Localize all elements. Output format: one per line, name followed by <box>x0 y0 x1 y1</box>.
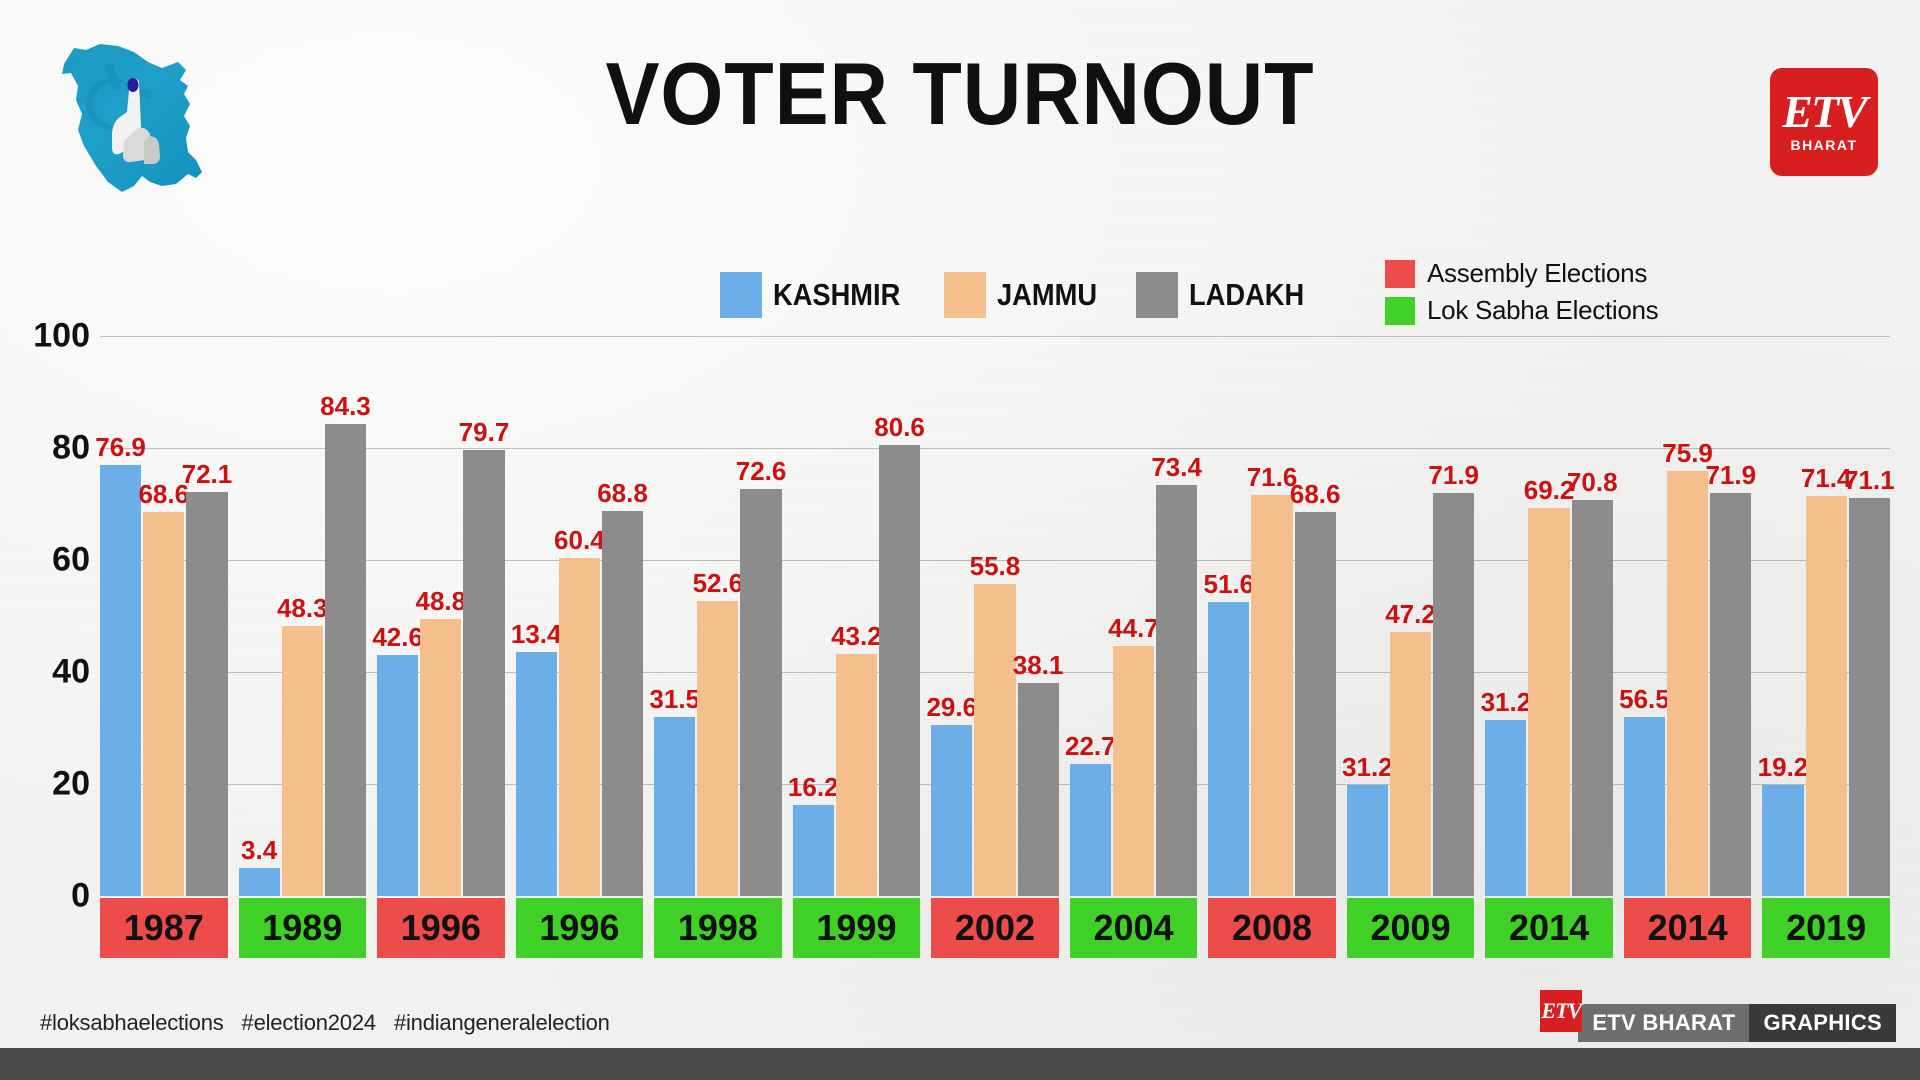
bar-value-label: 31.5 <box>649 686 700 712</box>
bar-kashmir[interactable]: 76.9 <box>100 336 141 896</box>
legend-swatch-kashmir <box>720 272 762 318</box>
bar-rect <box>1485 720 1526 896</box>
bar-value-label: 80.6 <box>874 414 925 440</box>
bar-rect <box>1156 485 1197 896</box>
legend-item-assembly-elections[interactable]: Assembly Elections <box>1385 258 1658 289</box>
bar-groups: 76.968.672.13.448.384.342.648.879.713.46… <box>100 336 1890 896</box>
bar-rect <box>186 492 227 896</box>
year-label-1987-0[interactable]: 1987 <box>100 898 228 958</box>
y-axis-tick-40: 40 <box>52 653 90 692</box>
bar-ladakh[interactable]: 68.8 <box>602 336 643 896</box>
bar-group: 31.247.271.9 <box>1347 336 1475 896</box>
bar-kashmir[interactable]: 19.2 <box>1762 336 1803 896</box>
page-title: VOTER TURNOUT <box>77 50 1843 138</box>
bar-rect <box>602 511 643 896</box>
bar-kashmir[interactable]: 31.5 <box>654 336 695 896</box>
bar-rect <box>1433 493 1474 896</box>
year-label-2004-7[interactable]: 2004 <box>1070 898 1198 958</box>
bar-value-label: 3.4 <box>241 837 277 863</box>
bar-group: 19.271.471.1 <box>1762 336 1890 896</box>
bar-kashmir[interactable]: 42.6 <box>377 336 418 896</box>
bar-jammu[interactable]: 48.3 <box>282 336 323 896</box>
bar-value-label: 13.4 <box>511 621 562 647</box>
bar-ladakh[interactable]: 73.4 <box>1156 336 1197 896</box>
bar-rect <box>654 717 695 896</box>
year-label-2019-12[interactable]: 2019 <box>1762 898 1890 958</box>
bar-value-label: 29.6 <box>926 694 977 720</box>
bar-ladakh[interactable]: 80.6 <box>879 336 920 896</box>
bar-ladakh[interactable]: 72.6 <box>740 336 781 896</box>
hashtag[interactable]: #election2024 <box>242 1010 376 1035</box>
bar-group: 3.448.384.3 <box>239 336 367 896</box>
bar-rect <box>1624 717 1665 896</box>
hashtag[interactable]: #loksabhaelections <box>40 1010 224 1035</box>
year-axis-strip: 1987198919961996199819992002200420082009… <box>100 898 1890 958</box>
bar-ladakh[interactable]: 70.8 <box>1572 336 1613 896</box>
bar-group: 22.744.773.4 <box>1070 336 1198 896</box>
bar-value-label: 42.6 <box>372 624 423 650</box>
bar-value-label: 84.3 <box>320 393 371 419</box>
bar-kashmir[interactable]: 31.2 <box>1485 336 1526 896</box>
bar-jammu[interactable]: 68.6 <box>143 336 184 896</box>
bar-rect <box>879 445 920 896</box>
bar-rect <box>559 558 600 896</box>
bar-ladakh[interactable]: 72.1 <box>186 336 227 896</box>
bar-jammu[interactable]: 71.6 <box>1251 336 1292 896</box>
legend-label-lok-sabha: Lok Sabha Elections <box>1427 295 1658 326</box>
bar-jammu[interactable]: 43.2 <box>836 336 877 896</box>
bar-value-label: 70.8 <box>1567 469 1618 495</box>
bar-group: 51.671.668.6 <box>1208 336 1336 896</box>
legend-label-kashmir: KASHMIR <box>773 277 900 313</box>
bar-group: 31.269.270.8 <box>1485 336 1613 896</box>
bar-rect <box>1710 493 1751 896</box>
bar-jammu[interactable]: 75.9 <box>1667 336 1708 896</box>
bar-rect <box>1113 646 1154 896</box>
bar-rect <box>836 654 877 896</box>
bar-value-label: 56.5 <box>1619 686 1670 712</box>
bar-jammu[interactable]: 48.8 <box>420 336 461 896</box>
y-axis-tick-80: 80 <box>52 429 90 468</box>
bar-rect <box>1762 785 1803 896</box>
infographic-root: VOTER TURNOUT ETV BHARAT KASHMIR JAMMU L… <box>0 0 1920 1080</box>
bar-jammu[interactable]: 52.6 <box>697 336 738 896</box>
legend-swatch-ladakh <box>1136 272 1178 318</box>
legend-label-assembly: Assembly Elections <box>1427 258 1647 289</box>
footer-badge-graphics: GRAPHICS <box>1749 1004 1896 1042</box>
election-type-legend: Assembly Elections Lok Sabha Elections <box>1385 258 1658 326</box>
legend-label-ladakh: LADAKH <box>1189 277 1304 313</box>
bar-ladakh[interactable]: 84.3 <box>325 336 366 896</box>
bar-value-label: 68.8 <box>597 480 648 506</box>
bar-rect <box>1528 508 1569 896</box>
bar-jammu[interactable]: 47.2 <box>1390 336 1431 896</box>
year-label-1996-3[interactable]: 1996 <box>516 898 644 958</box>
bar-group: 56.575.971.9 <box>1624 336 1752 896</box>
footer-badge-etv-bharat: ETV BHARAT <box>1578 1004 1749 1042</box>
bar-rect <box>1018 683 1059 896</box>
bar-rect <box>931 725 972 896</box>
legend-label-jammu: JAMMU <box>997 277 1097 313</box>
bar-rect <box>1251 495 1292 896</box>
chart-plot-area: 76.968.672.13.448.384.342.648.879.713.46… <box>100 336 1890 896</box>
bar-value-label: 31.2 <box>1342 754 1393 780</box>
bar-group: 42.648.879.7 <box>377 336 505 896</box>
hashtag-list: #loksabhaelections#election2024#indiange… <box>40 1010 628 1036</box>
bar-value-label: 73.4 <box>1151 454 1202 480</box>
bar-rect <box>1667 471 1708 896</box>
bar-value-label: 22.7 <box>1065 733 1116 759</box>
bar-ladakh[interactable]: 68.6 <box>1295 336 1336 896</box>
bar-group: 29.655.838.1 <box>931 336 1059 896</box>
legend-swatch-jammu <box>944 272 986 318</box>
bar-kashmir[interactable]: 29.6 <box>931 336 972 896</box>
bar-ladakh[interactable]: 79.7 <box>463 336 504 896</box>
hashtag[interactable]: #indiangeneralelection <box>394 1010 610 1035</box>
etv-bharat-logo: ETV BHARAT <box>1770 68 1878 176</box>
bar-rect <box>1208 602 1249 896</box>
legend-item-jammu[interactable]: JAMMU <box>944 272 1111 318</box>
bar-rect <box>793 805 834 896</box>
bar-rect <box>1295 512 1336 896</box>
bar-value-label: 79.7 <box>459 419 510 445</box>
bar-value-label: 72.1 <box>182 461 233 487</box>
bar-value-label: 19.2 <box>1758 754 1809 780</box>
bar-rect <box>974 584 1015 896</box>
footer-etv-mark: ETV <box>1540 990 1582 1032</box>
bar-rect <box>1806 496 1847 896</box>
legend-swatch-lok-sabha <box>1385 297 1415 325</box>
year-label-2008-8[interactable]: 2008 <box>1208 898 1336 958</box>
series-legend: KASHMIR JAMMU LADAKH <box>720 272 1320 318</box>
bar-ladakh[interactable]: 71.9 <box>1433 336 1474 896</box>
bar-kashmir[interactable]: 13.4 <box>516 336 557 896</box>
year-label-1996-2[interactable]: 1996 <box>377 898 505 958</box>
bar-jammu[interactable]: 69.2 <box>1528 336 1569 896</box>
y-axis-tick-0: 0 <box>71 877 90 916</box>
bar-value-label: 16.2 <box>788 774 839 800</box>
bar-value-label: 71.1 <box>1844 467 1895 493</box>
bharat-wordmark: BHARAT <box>1790 137 1857 153</box>
bar-value-label: 71.9 <box>1428 462 1479 488</box>
bar-rect <box>377 655 418 896</box>
bars-plot: 76.968.672.13.448.384.342.648.879.713.46… <box>100 336 1890 896</box>
etv-wordmark: ETV <box>1782 91 1865 132</box>
bar-rect <box>143 512 184 896</box>
year-label-2014-10[interactable]: 2014 <box>1485 898 1613 958</box>
legend-swatch-assembly <box>1385 260 1415 288</box>
bar-value-label: 38.1 <box>1013 652 1064 678</box>
bar-value-label: 44.7 <box>1108 615 1159 641</box>
y-axis-tick-20: 20 <box>52 765 90 804</box>
bar-value-label: 71.9 <box>1705 462 1756 488</box>
bar-kashmir[interactable]: 22.7 <box>1070 336 1111 896</box>
y-axis-tick-100: 100 <box>33 317 90 356</box>
year-label-2009-9[interactable]: 2009 <box>1347 898 1475 958</box>
bar-value-label: 48.3 <box>277 595 328 621</box>
bar-value-label: 43.2 <box>831 623 882 649</box>
y-axis: 100806040200 <box>22 336 100 896</box>
year-label-1998-4[interactable]: 1998 <box>654 898 782 958</box>
bar-rect <box>1390 632 1431 896</box>
bar-rect <box>325 424 366 896</box>
bar-value-label: 55.8 <box>970 553 1021 579</box>
legend-item-lok-sabha-elections[interactable]: Lok Sabha Elections <box>1385 295 1658 326</box>
legend-item-ladakh[interactable]: LADAKH <box>1136 272 1320 318</box>
bar-kashmir[interactable]: 56.5 <box>1624 336 1665 896</box>
bar-jammu[interactable]: 71.4 <box>1806 336 1847 896</box>
bar-jammu[interactable]: 44.7 <box>1113 336 1154 896</box>
bar-rect <box>420 619 461 896</box>
bar-value-label: 52.6 <box>693 570 744 596</box>
bottom-bar <box>0 1048 1920 1080</box>
legend-item-kashmir[interactable]: KASHMIR <box>720 272 918 318</box>
bar-rect <box>697 601 738 896</box>
bar-value-label: 76.9 <box>95 434 146 460</box>
footer-badge: ETV ETV BHARAT GRAPHICS <box>1540 1000 1896 1042</box>
year-label-1989-1[interactable]: 1989 <box>239 898 367 958</box>
bar-kashmir[interactable]: 51.6 <box>1208 336 1249 896</box>
bar-group: 16.243.280.6 <box>793 336 921 896</box>
bar-rect <box>1347 785 1388 896</box>
bar-rect <box>100 465 141 896</box>
bar-ladakh[interactable]: 71.1 <box>1849 336 1890 896</box>
bar-jammu[interactable]: 60.4 <box>559 336 600 896</box>
bar-ladakh[interactable]: 71.9 <box>1710 336 1751 896</box>
bar-kashmir[interactable]: 3.4 <box>239 336 280 896</box>
bar-value-label: 60.4 <box>554 527 605 553</box>
bar-rect <box>740 489 781 896</box>
bar-kashmir[interactable]: 16.2 <box>793 336 834 896</box>
year-label-1999-5[interactable]: 1999 <box>793 898 921 958</box>
year-label-2002-6[interactable]: 2002 <box>931 898 1059 958</box>
bar-jammu[interactable]: 55.8 <box>974 336 1015 896</box>
bar-value-label: 48.8 <box>416 588 467 614</box>
y-axis-tick-60: 60 <box>52 541 90 580</box>
bar-group: 31.552.672.6 <box>654 336 782 896</box>
bar-value-label: 47.2 <box>1385 601 1436 627</box>
bar-rect <box>516 652 557 896</box>
bar-value-label: 31.2 <box>1481 689 1532 715</box>
bar-rect <box>239 868 280 896</box>
bar-rect <box>1070 764 1111 896</box>
bar-value-label: 51.6 <box>1204 571 1255 597</box>
year-label-2014-11[interactable]: 2014 <box>1624 898 1752 958</box>
bar-group: 76.968.672.1 <box>100 336 228 896</box>
bar-rect <box>1572 500 1613 896</box>
bar-kashmir[interactable]: 31.2 <box>1347 336 1388 896</box>
bar-value-label: 72.6 <box>736 458 787 484</box>
bar-group: 13.460.468.8 <box>516 336 644 896</box>
bar-rect <box>1849 498 1890 896</box>
bar-rect <box>282 626 323 896</box>
bar-rect <box>463 450 504 896</box>
bar-ladakh[interactable]: 38.1 <box>1018 336 1059 896</box>
bar-value-label: 68.6 <box>1290 481 1341 507</box>
